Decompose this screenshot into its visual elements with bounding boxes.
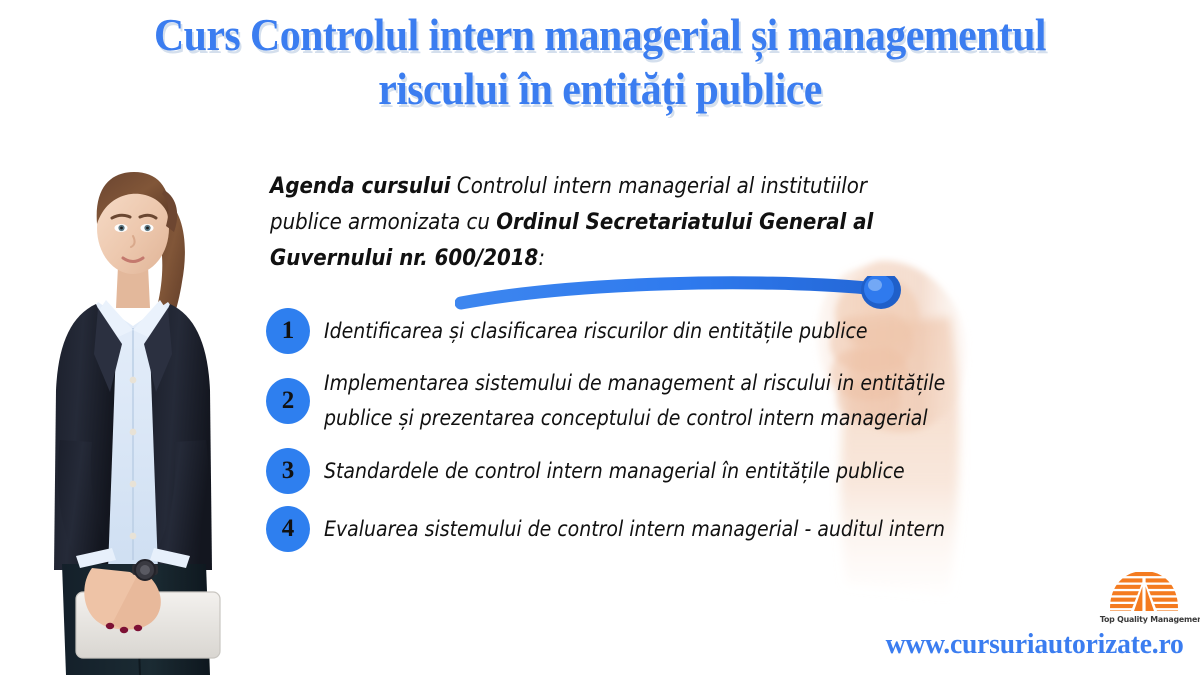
- tqm-logo-caption: Top Quality Management: [1100, 614, 1188, 625]
- item-number-badge: 4: [266, 506, 310, 552]
- item-text: Evaluarea sistemului de control intern m…: [324, 512, 1003, 547]
- list-item[interactable]: 1 Identificarea și clasificarea riscuril…: [266, 308, 1096, 354]
- item-text: Standardele de control intern managerial…: [324, 454, 1003, 489]
- sunrise-dome-icon: [1108, 570, 1180, 614]
- item-number-badge: 1: [266, 308, 310, 354]
- page-title: Curs Controlul intern managerial și mana…: [0, 8, 1200, 116]
- agenda-lead-tail: :: [538, 245, 545, 271]
- item-text: Identificarea și clasificarea riscurilor…: [324, 314, 1003, 349]
- item-number-badge: 3: [266, 448, 310, 494]
- item-text: Implementarea sistemului de management a…: [324, 366, 1003, 436]
- agenda-lead-bold: Agenda cursului: [270, 173, 451, 199]
- title-line-2: riscului în entități publice: [42, 62, 1158, 116]
- agenda-items-list: 1 Identificarea și clasificarea riscuril…: [266, 308, 1096, 564]
- slide-canvas: Curs Controlul intern managerial și mana…: [0, 0, 1200, 675]
- item-number-badge: 2: [266, 378, 310, 424]
- list-item[interactable]: 2 Implementarea sistemului de management…: [266, 366, 1096, 436]
- website-url[interactable]: www.cursuriautorizate.ro: [886, 627, 1184, 661]
- agenda-intro: Agenda cursului Controlul intern manager…: [270, 168, 921, 276]
- title-line-1: Curs Controlul intern managerial și mana…: [42, 8, 1158, 62]
- list-item[interactable]: 4 Evaluarea sistemului de control intern…: [266, 506, 1096, 552]
- presenter-photo: [36, 140, 264, 675]
- list-item[interactable]: 3 Standardele de control intern manageri…: [266, 448, 1096, 494]
- marker-underline-stroke: [455, 276, 915, 312]
